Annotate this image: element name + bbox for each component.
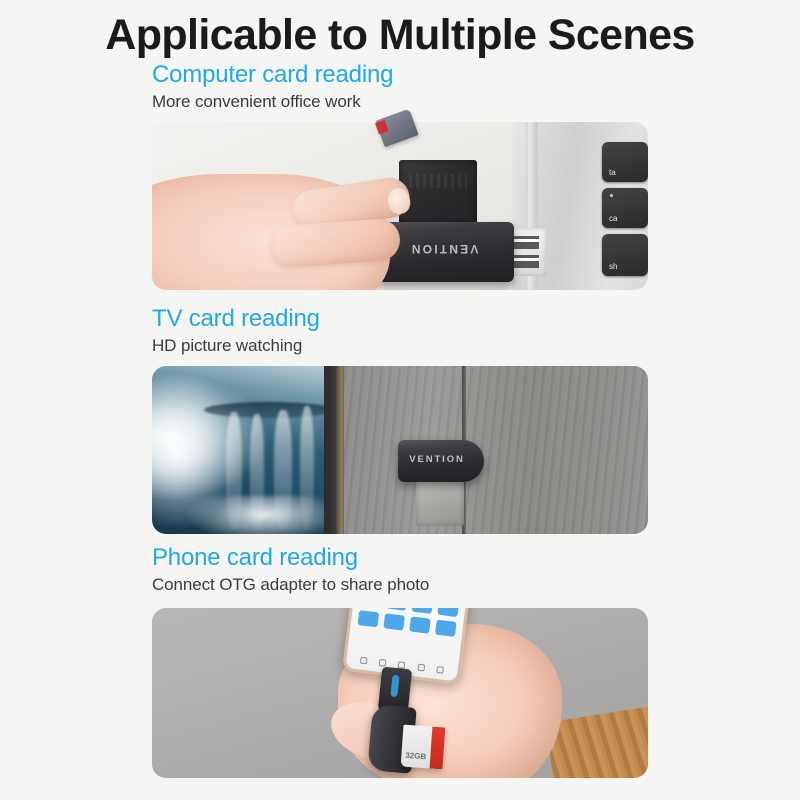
section-phone-heading: Phone card reading [152,545,648,572]
delete-icon [417,664,425,672]
photo-tv-card-reading: VENTION [152,366,648,534]
section-phone-text: Phone card reading Connect OTG adapter t… [152,545,648,595]
key-label: ca [609,214,617,223]
photo-phone-card-reading: 32GB [152,608,648,778]
section-tv-heading: TV card reading [152,306,648,333]
inserted-sd-card [399,160,477,226]
sd-card-capacity-label: 32GB [405,751,426,761]
tv-bezel [324,366,344,534]
waterfall-foam [184,496,344,534]
share-icon [360,657,368,665]
keyboard-key-shift: sh [602,234,648,276]
app-icon [383,613,405,630]
app-icon [437,608,459,617]
keyboard-key-tab: ta [602,142,648,182]
section-computer-text: Computer card reading More convenient of… [152,62,648,112]
app-icon [358,610,380,627]
photo-computer-card-reading: ta ca sh VENTION [152,122,648,290]
section-computer-subtitle: More convenient office work [152,91,648,112]
waterfall-crest [204,402,334,418]
tv-screen-waterfall [152,366,324,534]
section-tv-subtitle: HD picture watching [152,335,648,356]
app-icon [412,608,434,614]
brand-logo-vention: VENTION [398,454,476,465]
app-icon [435,620,457,637]
section-phone-subtitle: Connect OTG adapter to share photo [152,574,648,595]
keyboard-key-caps: ca [602,188,648,228]
inserted-sd-card [416,480,464,526]
app-icon [409,616,431,633]
section-tv-text: TV card reading HD picture watching [152,306,648,356]
key-label: ta [609,168,616,177]
caps-lock-indicator-icon [610,194,613,197]
page-title: Applicable to Multiple Scenes [0,12,800,59]
phone-app-grid [358,608,462,637]
app-icon [386,608,408,611]
section-computer-heading: Computer card reading [152,62,648,89]
more-icon [436,666,444,674]
add-icon [379,659,387,667]
key-label: sh [609,262,617,271]
product-feature-page: Applicable to Multiple Scenes Computer c… [0,0,800,800]
wood-wall [342,366,648,534]
card-reader-device: VENTION [398,440,484,482]
sd-memory-card: 32GB [401,725,446,770]
